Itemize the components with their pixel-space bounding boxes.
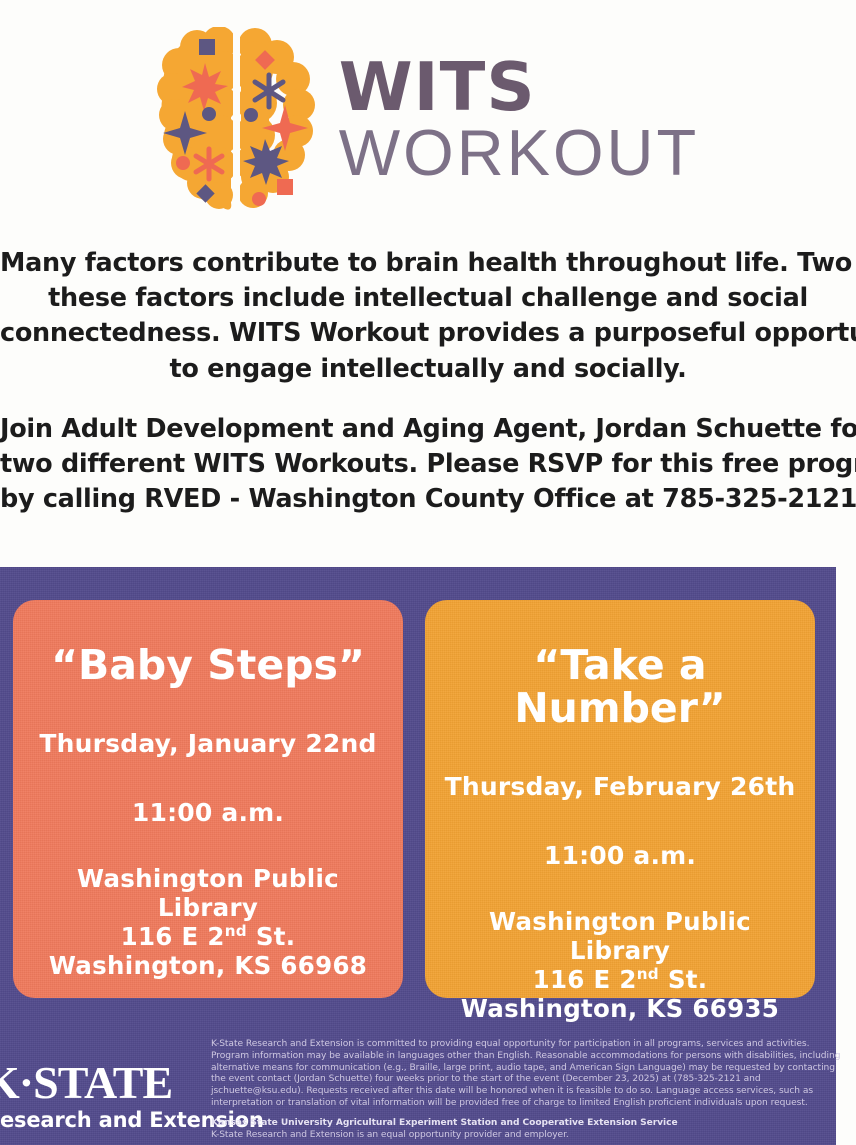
venue-line-1: Washington Public xyxy=(439,908,801,937)
agency-line: Kansas State University Agricultural Exp… xyxy=(211,1118,849,1130)
street-number: 116 E 2 xyxy=(121,922,225,951)
event-title: “Take a Number” xyxy=(439,644,801,730)
disclaimer-text: K-State Research and Extension is commit… xyxy=(211,1039,849,1110)
intro-p1-line-3: connectedness. WITS Workout provides a p… xyxy=(0,316,856,351)
event-card-baby-steps[interactable]: “Baby Steps” Thursday, January 22nd 11:0… xyxy=(13,600,403,998)
event-time: 11:00 a.m. xyxy=(27,798,389,827)
event-venue: Washington Public Library 116 E 2nd St. … xyxy=(439,908,801,1024)
brain-icon xyxy=(157,27,317,217)
eeo-line: K-State Research and Extension is an equ… xyxy=(211,1130,849,1142)
brand-wits: WITS xyxy=(339,57,699,119)
kstate-logo: K·STATE Research and Extension xyxy=(0,1060,199,1131)
event-date: Thursday, February 26th xyxy=(439,772,801,801)
event-venue: Washington Public Library 116 E 2nd St. … xyxy=(27,865,389,981)
venue-line-1: Washington Public xyxy=(27,865,389,894)
intro-p1-line-1: Many factors contribute to brain health … xyxy=(0,246,856,281)
intro-p2-line-1: Join Adult Development and Aging Agent, … xyxy=(0,412,856,447)
venue-line-2: Library xyxy=(27,894,389,923)
flyer-page: WITS WORKOUT Many factors contribute to … xyxy=(0,0,856,1145)
venue-city-state-zip: Washington, KS 66935 xyxy=(439,995,801,1024)
event-card-take-a-number[interactable]: “Take a Number” Thursday, February 26th … xyxy=(425,600,815,998)
intro-p2-line-2: two different WITS Workouts. Please RSVP… xyxy=(0,447,856,482)
venue-line-2: Library xyxy=(439,937,801,966)
event-time: 11:00 a.m. xyxy=(439,841,801,870)
brand-workout: WORKOUT xyxy=(339,123,699,183)
fine-print-spacer xyxy=(211,1110,849,1118)
street-number: 116 E 2 xyxy=(533,965,637,994)
intro-p2-line-3: by calling RVED - Washington County Offi… xyxy=(0,482,856,517)
venue-street: 116 E 2nd St. xyxy=(27,923,389,952)
event-title: “Baby Steps” xyxy=(27,644,389,687)
street-suffix: St. xyxy=(659,965,707,994)
street-ordinal: nd xyxy=(637,965,659,983)
intro-p1-line-2: these factors include intellectual chall… xyxy=(0,281,856,316)
brand-wordmark: WITS WORKOUT xyxy=(339,57,699,186)
footer-fine-print: K-State Research and Extension is commit… xyxy=(211,1039,849,1142)
kstate-logo-sub: Research and Extension xyxy=(0,1110,199,1131)
venue-city-state-zip: Washington, KS 66968 xyxy=(27,952,389,981)
kstate-logo-main: K·STATE xyxy=(0,1060,199,1106)
wits-workout-logo: WITS WORKOUT xyxy=(0,22,856,222)
venue-street: 116 E 2nd St. xyxy=(439,966,801,995)
street-suffix: St. xyxy=(247,922,295,951)
intro-p1-line-4: to engage intellectually and socially. xyxy=(0,352,856,387)
event-date: Thursday, January 22nd xyxy=(27,729,389,758)
intro-paragraph-2: Join Adult Development and Aging Agent, … xyxy=(0,412,856,518)
intro-paragraph-1: Many factors contribute to brain health … xyxy=(0,246,856,387)
street-ordinal: nd xyxy=(225,922,247,940)
